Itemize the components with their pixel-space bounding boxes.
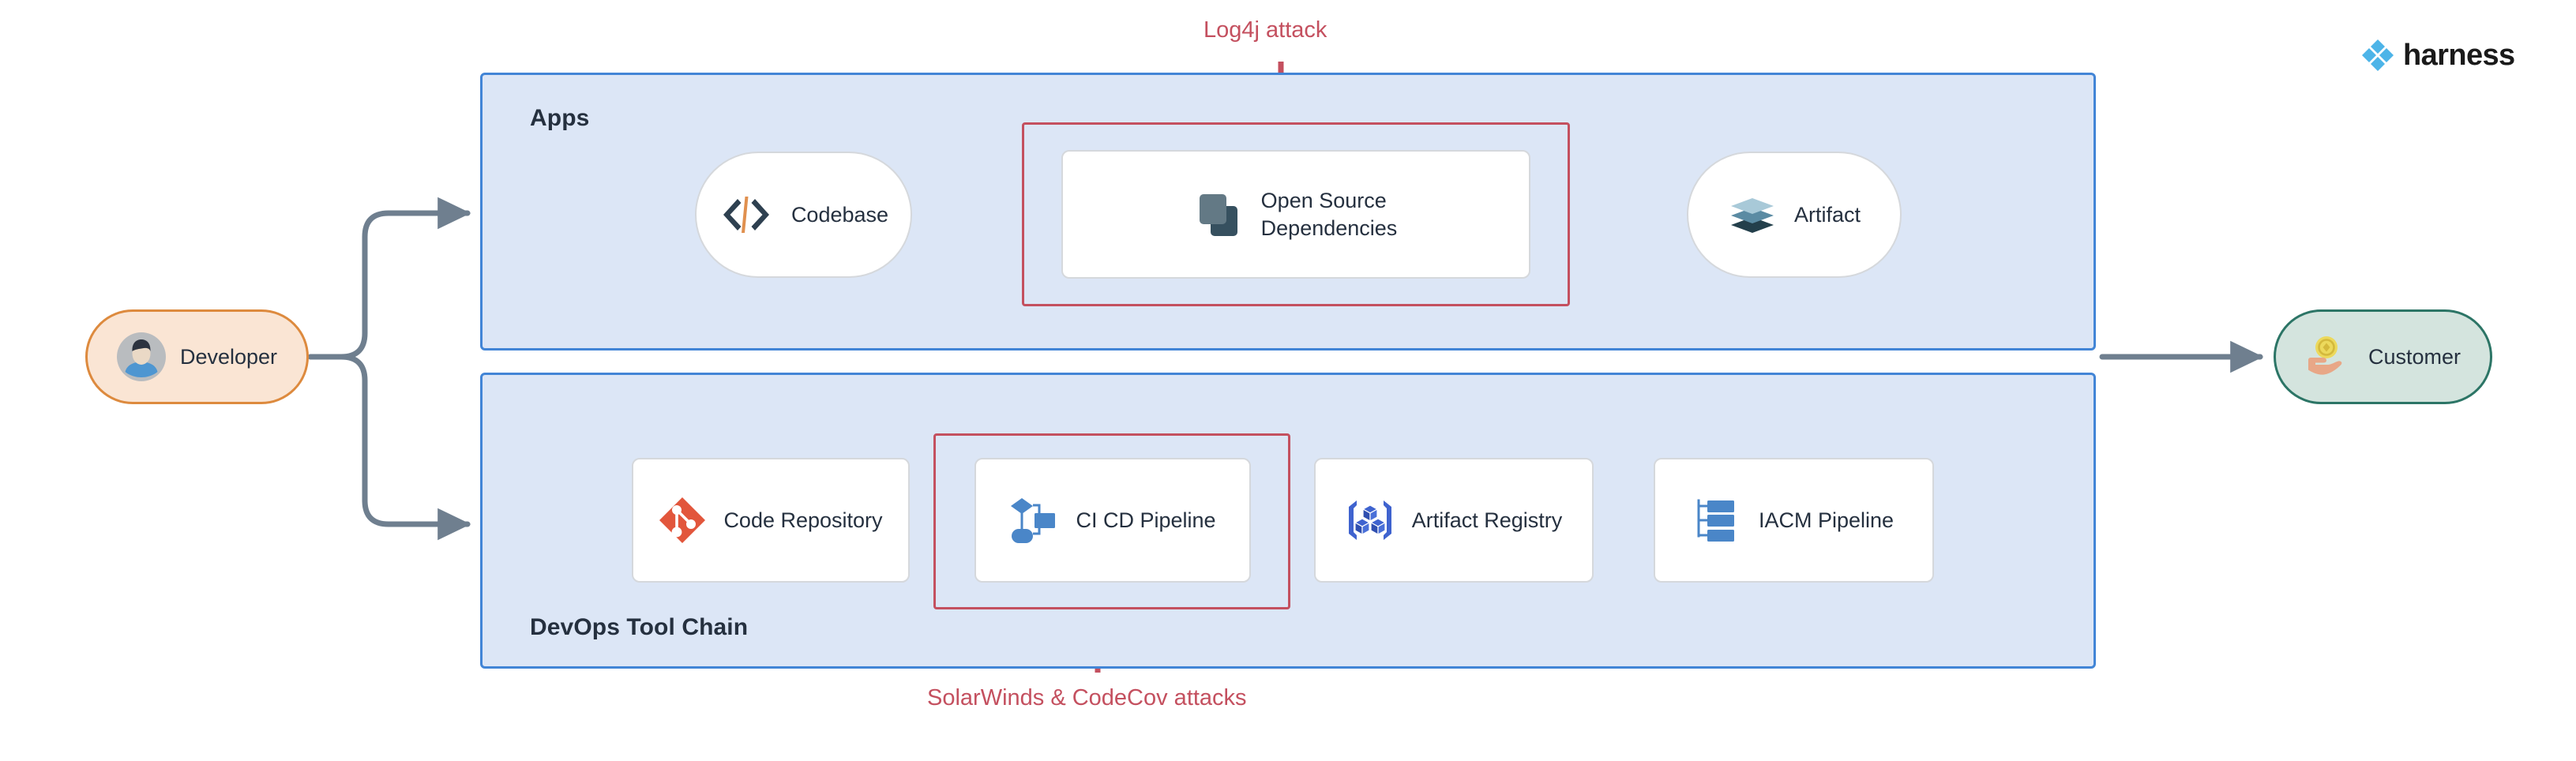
diagram-canvas: Apps DevOps Tool Chain Developer	[0, 0, 2576, 761]
node-ci-cd-pipeline-label: CI CD Pipeline	[1076, 507, 1215, 534]
brand-logo: harness	[2360, 38, 2515, 73]
hand-holding-coin-icon	[2305, 334, 2354, 380]
git-logo-icon	[659, 497, 706, 544]
connector-developer-split	[310, 213, 468, 524]
panel-devops-label: DevOps Tool Chain	[530, 614, 748, 641]
registry-cubes-icon	[1346, 498, 1395, 542]
stacked-squares-icon	[1195, 190, 1244, 239]
node-developer[interactable]: Developer	[85, 309, 309, 404]
node-ci-cd-pipeline[interactable]: CI CD Pipeline	[974, 458, 1251, 583]
user-avatar-icon	[117, 332, 166, 381]
hierarchy-bars-icon	[1694, 498, 1741, 542]
layers-stack-icon	[1728, 192, 1777, 238]
node-artifact-label: Artifact	[1794, 201, 1861, 229]
node-codebase-label: Codebase	[791, 201, 888, 229]
node-open-source-dependencies[interactable]: Open Source Dependencies	[1061, 150, 1530, 279]
node-code-repository-label: Code Repository	[723, 507, 882, 534]
node-codebase[interactable]: Codebase	[695, 152, 912, 278]
node-code-repository[interactable]: Code Repository	[632, 458, 910, 583]
node-open-source-dependencies-label: Open Source Dependencies	[1261, 187, 1398, 242]
node-iacm-pipeline[interactable]: IACM Pipeline	[1654, 458, 1934, 583]
threat-label-solarwinds-codecov: SolarWinds & CodeCov attacks	[927, 685, 1247, 711]
node-iacm-pipeline-label: IACM Pipeline	[1759, 507, 1894, 534]
flowchart-icon	[1009, 496, 1058, 545]
code-brackets-icon	[719, 193, 774, 237]
node-artifact-registry[interactable]: Artifact Registry	[1314, 458, 1594, 583]
threat-label-log4j: Log4j attack	[1204, 17, 1327, 43]
node-customer[interactable]: Customer	[2274, 309, 2492, 404]
panel-apps-label: Apps	[530, 105, 589, 132]
brand-wordmark: harness	[2403, 39, 2515, 73]
node-artifact[interactable]: Artifact	[1687, 152, 1902, 278]
node-customer-label: Customer	[2368, 345, 2461, 369]
node-developer-label: Developer	[180, 345, 277, 369]
harness-diamonds-icon	[2360, 38, 2395, 73]
node-artifact-registry-label: Artifact Registry	[1412, 507, 1563, 534]
